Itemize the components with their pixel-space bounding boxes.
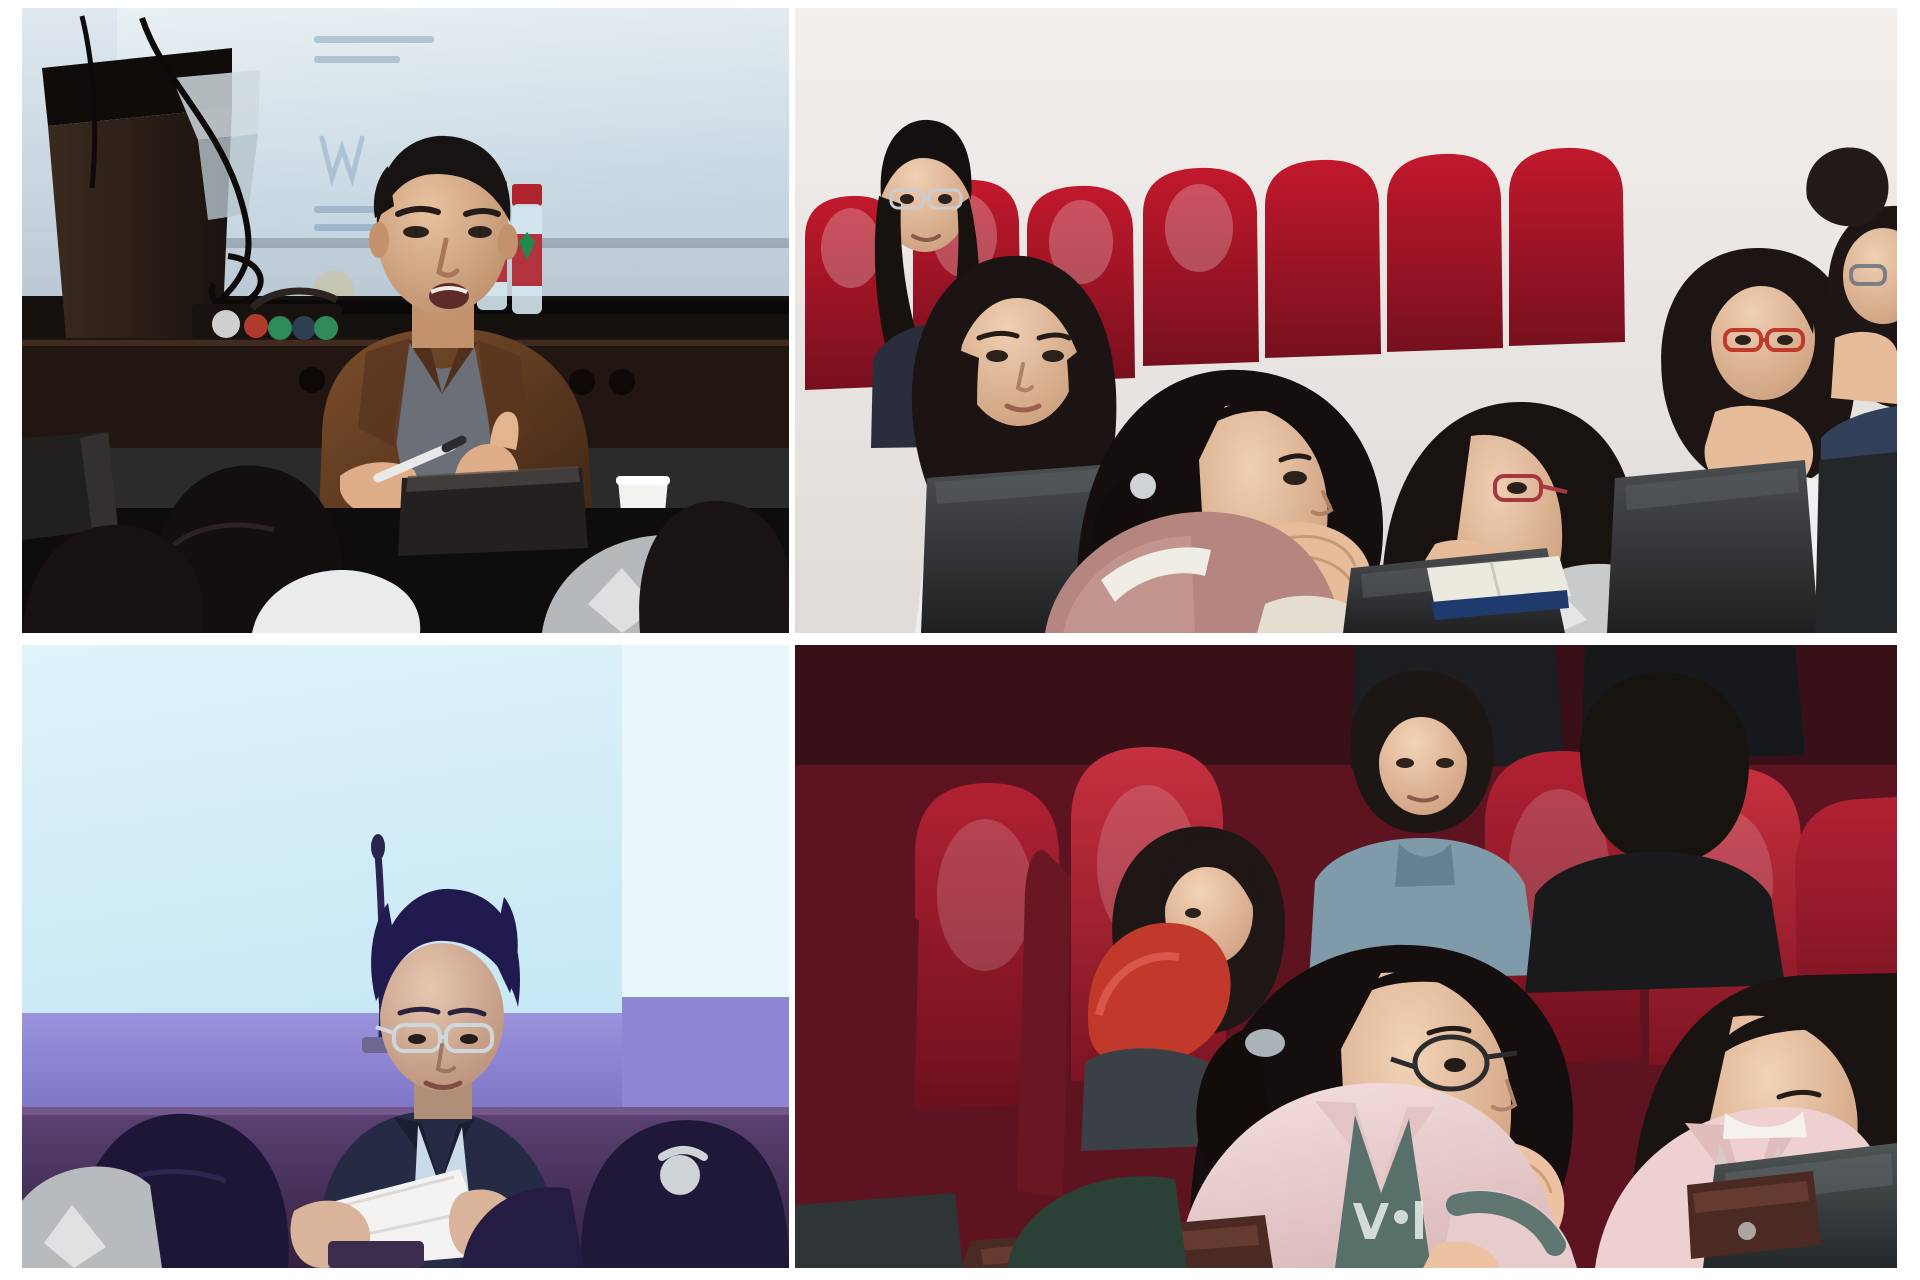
photo-bottom-left-artwork xyxy=(22,645,789,1268)
photo-collage xyxy=(0,0,1920,1280)
photo-panel-bottom-right xyxy=(795,645,1897,1268)
photo-top-left-artwork xyxy=(22,8,789,633)
photo-top-right-artwork xyxy=(795,8,1897,633)
photo-bottom-right-artwork xyxy=(795,645,1897,1268)
photo-panel-top-left xyxy=(22,8,789,633)
photo-panel-bottom-left xyxy=(22,645,789,1268)
photo-panel-top-right xyxy=(795,8,1897,633)
